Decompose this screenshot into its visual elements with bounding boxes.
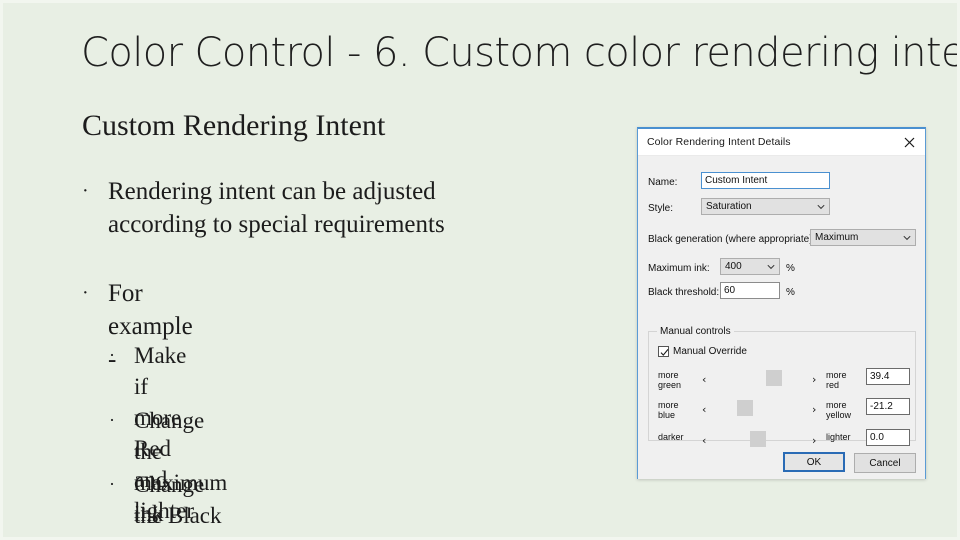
slider-left-label: more blue bbox=[658, 400, 700, 420]
black-threshold-field[interactable]: 60 bbox=[720, 282, 780, 299]
style-select-value: Saturation bbox=[706, 201, 752, 212]
slider-value-field[interactable]: -21.2 bbox=[866, 398, 910, 415]
bullet-marker: · bbox=[109, 469, 134, 540]
manual-override-row[interactable]: Manual Override bbox=[658, 346, 747, 357]
slider-value-field[interactable]: 0.0 bbox=[866, 429, 910, 446]
slider-thumb[interactable] bbox=[766, 370, 782, 386]
list-item: · Change the Black Generation method bbox=[109, 469, 236, 540]
increase-arrow-icon[interactable]: › bbox=[812, 373, 816, 386]
black-generation-select[interactable]: Maximum bbox=[810, 229, 916, 246]
checkbox-checked-icon[interactable] bbox=[658, 346, 669, 357]
black-threshold-label: Black threshold: bbox=[648, 287, 719, 298]
close-icon[interactable] bbox=[893, 129, 925, 155]
style-select[interactable]: Saturation bbox=[701, 198, 830, 215]
dialog-titlebar: Color Rendering Intent Details bbox=[638, 129, 925, 156]
slider-track[interactable] bbox=[714, 367, 808, 391]
color-rendering-intent-dialog: Color Rendering Intent Details Name: Cus… bbox=[637, 127, 926, 479]
increase-arrow-icon[interactable]: › bbox=[812, 434, 816, 447]
black-threshold-unit: % bbox=[786, 287, 795, 298]
maximum-ink-unit: % bbox=[786, 263, 795, 274]
manual-override-label: Manual Override bbox=[673, 346, 747, 357]
chevron-down-icon bbox=[767, 263, 775, 271]
decrease-arrow-icon[interactable]: ‹ bbox=[702, 373, 706, 386]
ok-button[interactable]: OK bbox=[783, 452, 845, 472]
decrease-arrow-icon[interactable]: ‹ bbox=[702, 403, 706, 416]
maximum-ink-label: Maximum ink: bbox=[648, 263, 710, 274]
chevron-down-icon bbox=[903, 234, 911, 242]
slider-right-label: more yellow bbox=[826, 400, 868, 420]
list-item-label: Rendering intent can be adjusted accordi… bbox=[108, 175, 538, 241]
manual-controls-label: Manual controls bbox=[657, 326, 734, 337]
list-item: · Rendering intent can be adjusted accor… bbox=[82, 175, 542, 241]
slider-right-label: more red bbox=[826, 370, 868, 390]
black-generation-select-value: Maximum bbox=[815, 232, 858, 243]
name-field[interactable]: Custom Intent bbox=[701, 172, 830, 189]
cancel-button[interactable]: Cancel bbox=[854, 453, 916, 473]
slider-left-label: darker bbox=[658, 432, 700, 442]
slider-thumb[interactable] bbox=[750, 431, 766, 447]
slider-thumb[interactable] bbox=[737, 400, 753, 416]
dialog-title: Color Rendering Intent Details bbox=[647, 136, 791, 148]
slider-track[interactable] bbox=[714, 428, 808, 452]
slide-canvas: Color Control - 6. Custom color renderin… bbox=[0, 0, 960, 540]
slider-value-field[interactable]: 39.4 bbox=[866, 368, 910, 385]
manual-controls-group: Manual controls Manual Override more gre… bbox=[648, 331, 916, 441]
black-generation-label: Black generation (where appropriate): bbox=[648, 234, 815, 245]
name-label: Name: bbox=[648, 177, 677, 188]
slider-row-blue-yellow: more blue ‹ › more yellow -21.2 bbox=[658, 397, 908, 425]
slider-left-label: more green bbox=[658, 370, 700, 390]
decrease-arrow-icon[interactable]: ‹ bbox=[702, 434, 706, 447]
style-label: Style: bbox=[648, 203, 673, 214]
bullet-marker: · bbox=[82, 175, 108, 241]
maximum-ink-value: 400 bbox=[725, 261, 742, 272]
slider-track[interactable] bbox=[714, 397, 808, 421]
slide-subtitle: Custom Rendering Intent bbox=[82, 109, 385, 143]
slider-row-green-red: more green ‹ › more red 39.4 bbox=[658, 367, 908, 395]
page-title: Color Control - 6. Custom color renderin… bbox=[81, 30, 931, 76]
dialog-body: Name: Custom Intent Style: Saturation Bl… bbox=[638, 156, 925, 479]
slider-right-label: lighter bbox=[826, 432, 868, 442]
list-item-label: Change the Black Generation method bbox=[134, 469, 236, 540]
chevron-down-icon bbox=[817, 203, 825, 211]
increase-arrow-icon[interactable]: › bbox=[812, 403, 816, 416]
bullet-marker: · bbox=[82, 277, 108, 376]
maximum-ink-select[interactable]: 400 bbox=[720, 258, 780, 275]
